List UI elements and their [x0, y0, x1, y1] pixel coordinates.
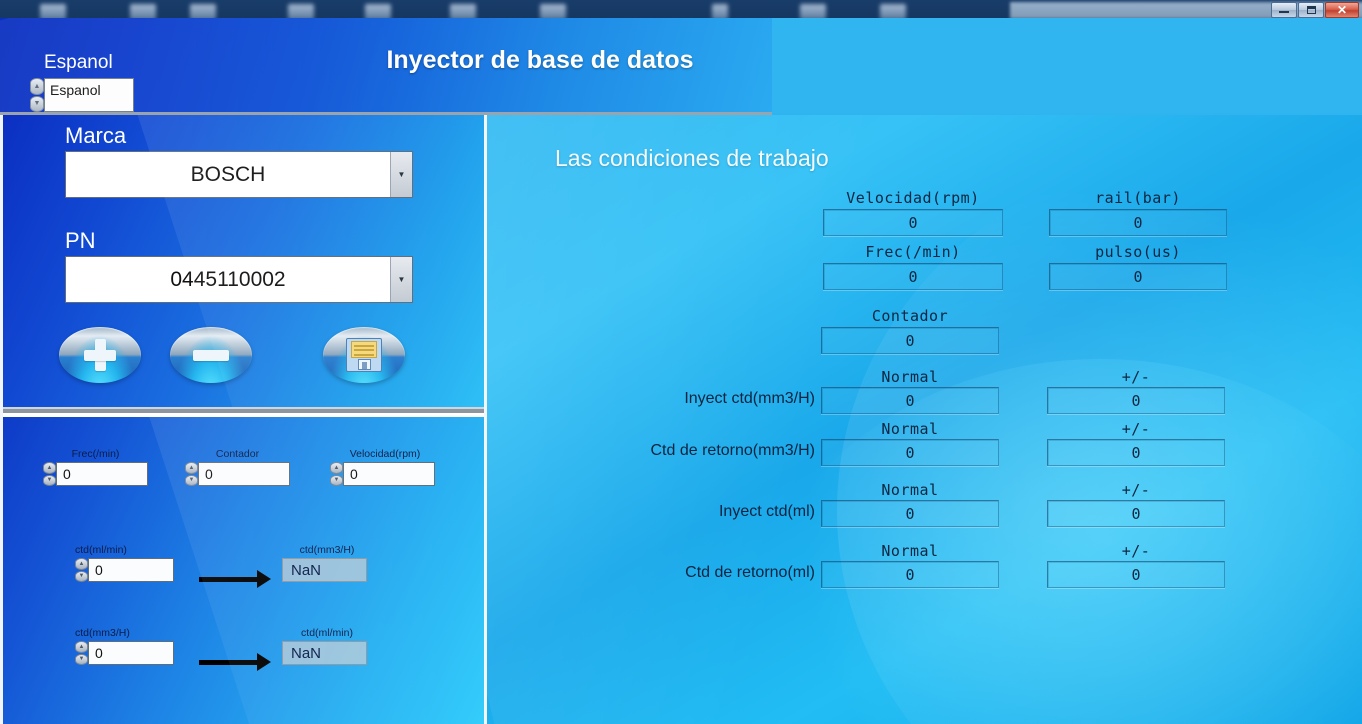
conversion-2-input[interactable]: 0	[88, 641, 174, 665]
normal-head: Normal	[821, 542, 999, 560]
plus-icon	[83, 338, 117, 372]
minimize-button[interactable]	[1271, 2, 1297, 18]
spinner-down-icon[interactable]: ▼	[75, 571, 88, 583]
normal-head: Normal	[821, 368, 999, 386]
inyect-ctd-mm3h-normal: 0	[821, 387, 999, 414]
contador-spinner-group: Contador ▲ ▼ 0	[185, 448, 290, 486]
spinner-down-icon[interactable]: ▼	[43, 475, 56, 487]
spinner-up-icon[interactable]: ▲	[43, 462, 56, 474]
ctd-retorno-mm3h-normal: 0	[821, 439, 999, 466]
pulso-head: pulso(us)	[1049, 243, 1227, 261]
conversion-2-output-label: ctd(ml/min)	[282, 627, 372, 639]
tolerance-head: +/-	[1047, 368, 1225, 386]
left-column: Marca BOSCH ▼ PN 0445110002 ▼	[0, 115, 484, 724]
conversion-2-input-label: ctd(mm3/H)	[75, 627, 175, 639]
spinner-up-icon[interactable]: ▲	[30, 78, 44, 95]
save-record-button[interactable]	[323, 327, 405, 383]
conversion-2-stepper[interactable]: ▲ ▼ 0	[75, 641, 174, 665]
inyect-ctd-ml-tolerance: 0	[1047, 500, 1225, 527]
chevron-down-icon[interactable]: ▼	[390, 257, 412, 302]
window-titlebar: ✕	[0, 0, 1362, 18]
tolerance-head: +/-	[1047, 420, 1225, 438]
marca-select[interactable]: BOSCH ▼	[65, 151, 413, 198]
language-label: Espanol	[44, 52, 113, 74]
velocidad-head: Velocidad(rpm)	[823, 189, 1003, 207]
frec-stepper[interactable]: ▲ ▼ 0	[43, 462, 148, 486]
page-title: Inyector de base de datos	[360, 46, 720, 75]
conversion-1-output-group: ctd(mm3/H) NaN	[282, 544, 372, 582]
remove-record-button[interactable]	[170, 327, 252, 383]
contador-value: 0	[821, 327, 999, 354]
contador-input[interactable]: 0	[198, 462, 290, 486]
tolerance-head: +/-	[1047, 481, 1225, 499]
spinner-down-icon[interactable]: ▼	[75, 654, 88, 666]
right-column: Las condiciones de trabajo Velocidad(rpm…	[484, 115, 1362, 724]
add-record-button[interactable]	[59, 327, 141, 383]
normal-head: Normal	[821, 420, 999, 438]
velocidad-label: Velocidad(rpm)	[330, 448, 440, 460]
frec-input[interactable]: 0	[56, 462, 148, 486]
inyect-ctd-mm3h-tolerance: 0	[1047, 387, 1225, 414]
conversion-2-input-group: ctd(mm3/H) ▲ ▼ 0	[75, 627, 175, 665]
conversion-1-input[interactable]: 0	[88, 558, 174, 582]
row-label-ctd-retorno-ml: Ctd de retorno(ml)	[587, 564, 815, 582]
app-header: Inyector de base de datos Espanol ▲ ▼ Es…	[0, 18, 772, 115]
ctd-retorno-ml-tolerance: 0	[1047, 561, 1225, 588]
contador-stepper[interactable]: ▲ ▼ 0	[185, 462, 290, 486]
marca-label: Marca	[65, 123, 126, 149]
pn-label: PN	[65, 228, 96, 254]
spinner-up-icon[interactable]: ▲	[75, 558, 88, 570]
manual-input-panel: Frec(/min) ▲ ▼ 0 Contador ▲ ▼	[3, 417, 484, 724]
conversion-1-arrow-icon	[199, 570, 271, 588]
spinner-up-icon[interactable]: ▲	[185, 462, 198, 474]
frec-value: 0	[823, 263, 1003, 290]
restore-button[interactable]	[1298, 2, 1324, 18]
spinner-up-icon[interactable]: ▲	[330, 462, 343, 474]
row-label-inyect-ctd-ml: Inyect ctd(ml)	[607, 503, 815, 521]
floppy-disk-icon	[346, 338, 382, 372]
normal-head: Normal	[821, 481, 999, 499]
velocidad-value: 0	[823, 209, 1003, 236]
velocidad-spinner-group: Velocidad(rpm) ▲ ▼ 0	[330, 448, 440, 486]
spinner-down-icon[interactable]: ▼	[185, 475, 198, 487]
contador-head: Contador	[821, 307, 999, 325]
spinner-down-icon[interactable]: ▼	[30, 96, 44, 113]
conversion-1-stepper[interactable]: ▲ ▼ 0	[75, 558, 174, 582]
header-filler	[772, 18, 1362, 113]
conversion-2-output-group: ctd(ml/min) NaN	[282, 627, 372, 665]
conversion-1-input-group: ctd(ml/min) ▲ ▼ 0	[75, 544, 175, 582]
language-spinner[interactable]: ▲ ▼	[30, 78, 44, 112]
row-label-ctd-retorno-mm3h: Ctd de retorno(mm3/H)	[567, 442, 815, 460]
spinner-up-icon[interactable]: ▲	[75, 641, 88, 653]
pn-select[interactable]: 0445110002 ▼	[65, 256, 413, 303]
rail-value: 0	[1049, 209, 1227, 236]
database-record-panel: Marca BOSCH ▼ PN 0445110002 ▼	[3, 115, 484, 407]
velocidad-input[interactable]: 0	[343, 462, 435, 486]
main-body: Marca BOSCH ▼ PN 0445110002 ▼	[0, 115, 1362, 724]
row-label-inyect-ctd-mm3h: Inyect ctd(mm3/H)	[607, 390, 815, 408]
close-icon[interactable]: ✕	[1325, 2, 1359, 18]
conversion-1-output-label: ctd(mm3/H)	[282, 544, 372, 556]
conversion-2-output: NaN	[282, 641, 367, 665]
working-conditions-title: Las condiciones de trabajo	[555, 145, 829, 172]
conversion-1-input-label: ctd(ml/min)	[75, 544, 175, 556]
chevron-down-icon[interactable]: ▼	[390, 152, 412, 197]
tolerance-head: +/-	[1047, 542, 1225, 560]
window-controls: ✕	[1271, 1, 1359, 18]
velocidad-stepper[interactable]: ▲ ▼ 0	[330, 462, 435, 486]
panel-divider	[3, 407, 484, 417]
contador-label: Contador	[185, 448, 290, 460]
marca-value: BOSCH	[66, 152, 390, 197]
frec-head: Frec(/min)	[823, 243, 1003, 261]
conversion-1-output: NaN	[282, 558, 367, 582]
frec-spinner-group: Frec(/min) ▲ ▼ 0	[43, 448, 148, 486]
conversion-2-arrow-icon	[199, 653, 271, 671]
spinner-down-icon[interactable]: ▼	[330, 475, 343, 487]
ctd-retorno-mm3h-tolerance: 0	[1047, 439, 1225, 466]
ctd-retorno-ml-normal: 0	[821, 561, 999, 588]
pn-value: 0445110002	[66, 257, 390, 302]
frec-label: Frec(/min)	[43, 448, 148, 460]
rail-head: rail(bar)	[1049, 189, 1227, 207]
application-window: Inyector de base de datos Espanol ▲ ▼ Es…	[0, 18, 1362, 724]
language-select[interactable]: Espanol	[44, 78, 134, 112]
inyect-ctd-ml-normal: 0	[821, 500, 999, 527]
pulso-value: 0	[1049, 263, 1227, 290]
minus-icon	[193, 350, 229, 361]
